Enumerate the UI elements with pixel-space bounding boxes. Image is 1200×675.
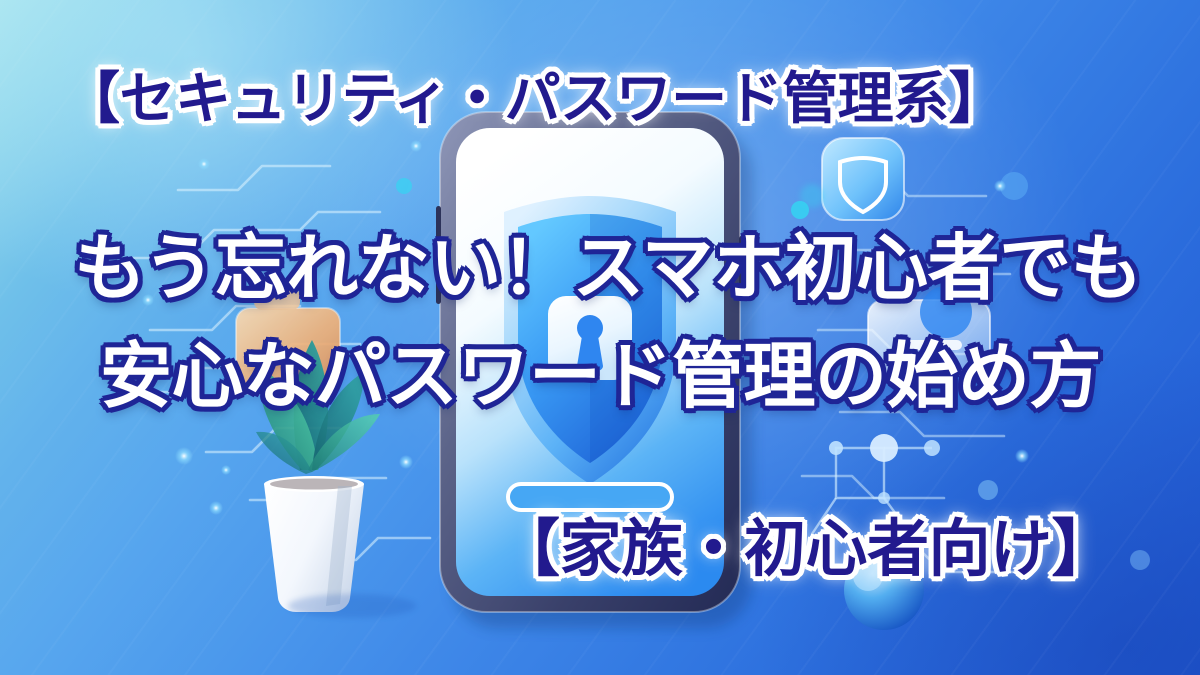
title-line-1: もう忘れない！スマホ初心者でも xyxy=(74,232,1142,304)
title-line-2: 安心なパスワード管理の始め方 xyxy=(100,340,1101,412)
category-label: 【セキュリティ・パスワード管理系】 xyxy=(64,72,1004,128)
banner-canvas: 【セキュリティ・パスワード管理系】 もう忘れない！スマホ初心者でも 安心なパスワ… xyxy=(0,0,1200,675)
audience-tag-label: 【家族・初心者向け】 xyxy=(498,518,1113,580)
headline-text-layer: 【セキュリティ・パスワード管理系】 もう忘れない！スマホ初心者でも 安心なパスワ… xyxy=(0,0,1200,675)
